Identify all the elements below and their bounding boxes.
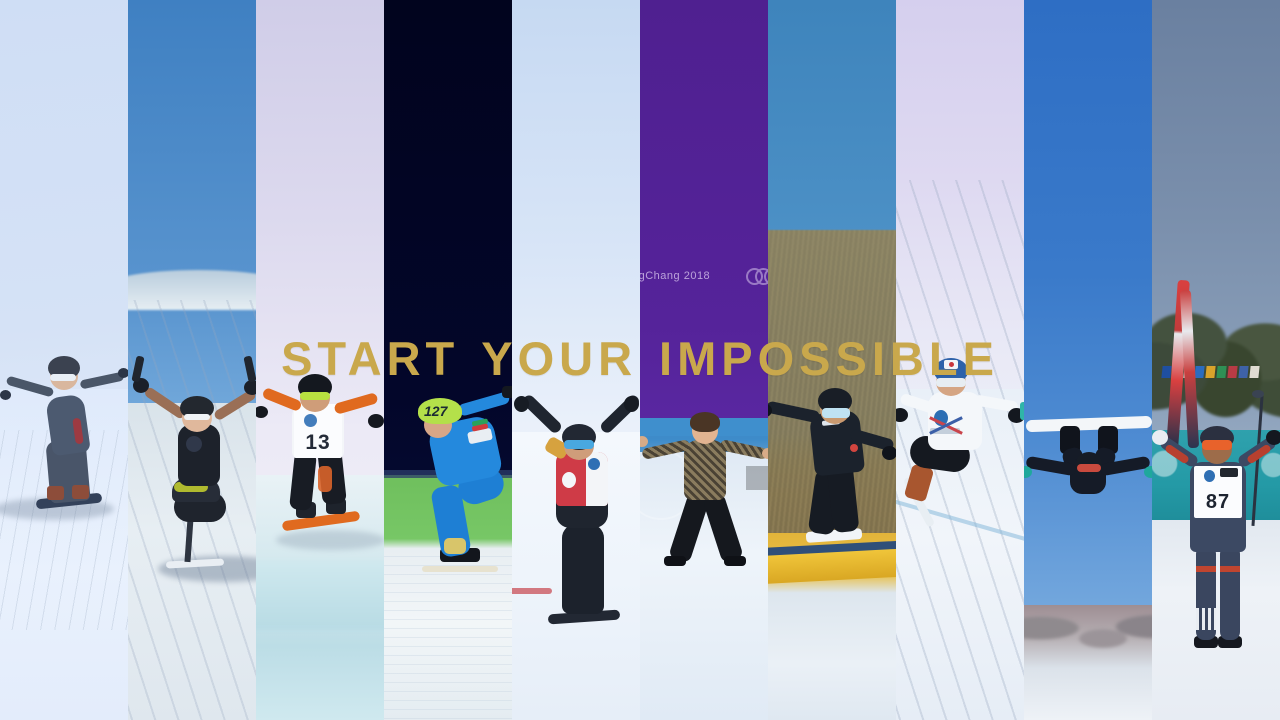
caption-word-3: IMPOSSIBLE [659,335,999,382]
olympic-rings-icon [746,268,768,282]
ice-band [256,560,384,630]
caption-word-2: YOUR [481,335,637,382]
race-bib: 13 [294,404,342,458]
caption-word-1: START [281,335,459,382]
bare-trees [1024,600,1152,670]
race-bib-number: 87 [1194,492,1242,512]
race-bib-number: 13 [294,432,342,453]
montage-stage: 13 [0,0,1280,720]
helmet-number: 127 [424,403,447,419]
course-marker [512,588,552,594]
wall-graphic-box [746,466,768,490]
venue-signage-text: ngChang 2018 [640,270,760,282]
campaign-caption: STARTYOURIMPOSSIBLE [0,335,1280,382]
ice-texture [384,556,512,720]
athlete-shadow [276,530,384,550]
